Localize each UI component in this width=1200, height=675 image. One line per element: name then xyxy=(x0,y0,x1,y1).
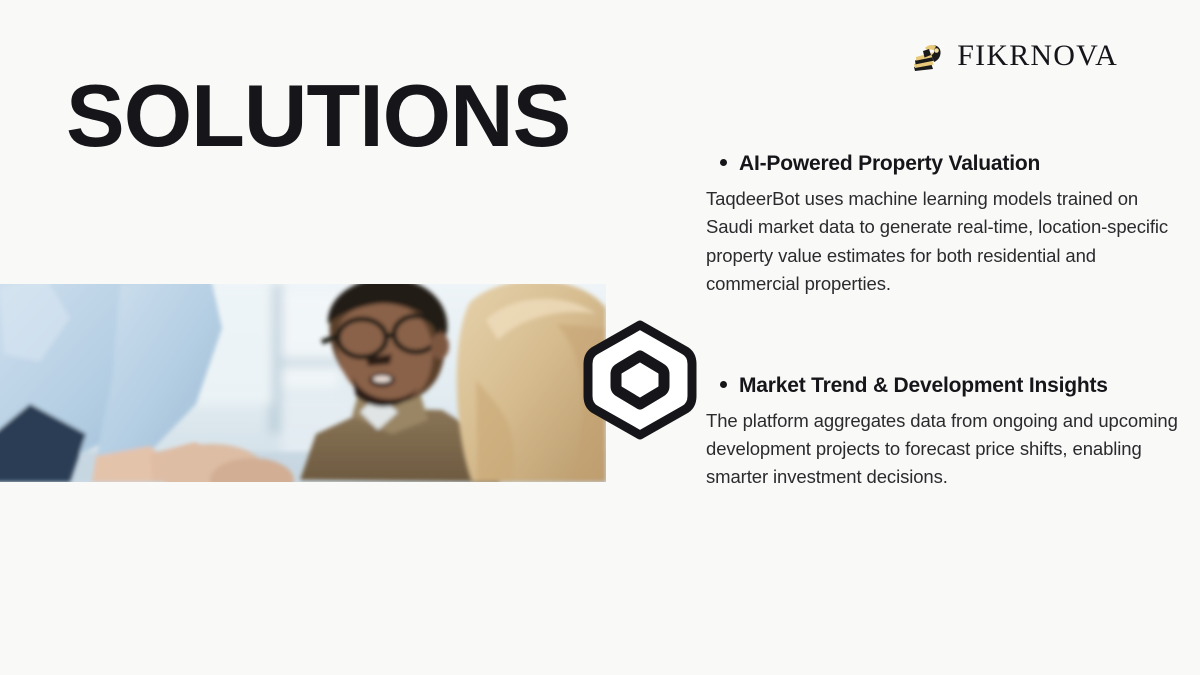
bullet-icon xyxy=(720,159,727,166)
feature-title: AI-Powered Property Valuation xyxy=(739,150,1040,177)
bullet-icon xyxy=(720,381,727,388)
features-column: AI-Powered Property Valuation TaqdeerBot… xyxy=(706,150,1184,491)
brand-logo: FIKRNOVA xyxy=(911,38,1118,74)
fikrnova-emblem-icon xyxy=(911,38,947,74)
feature-heading: Market Trend & Development Insights xyxy=(706,372,1184,399)
feature-heading: AI-Powered Property Valuation xyxy=(706,150,1184,177)
brand-wordmark: FIKRNOVA xyxy=(957,41,1118,71)
hexagon-nut-icon xyxy=(580,320,700,440)
page-title: SOLUTIONS xyxy=(66,70,570,162)
business-meeting-photo xyxy=(0,284,606,482)
feature-item: Market Trend & Development Insights The … xyxy=(706,372,1184,492)
feature-title: Market Trend & Development Insights xyxy=(739,372,1108,399)
feature-body: The platform aggregates data from ongoin… xyxy=(706,407,1184,491)
feature-item: AI-Powered Property Valuation TaqdeerBot… xyxy=(706,150,1184,298)
feature-body: TaqdeerBot uses machine learning models … xyxy=(706,185,1184,297)
